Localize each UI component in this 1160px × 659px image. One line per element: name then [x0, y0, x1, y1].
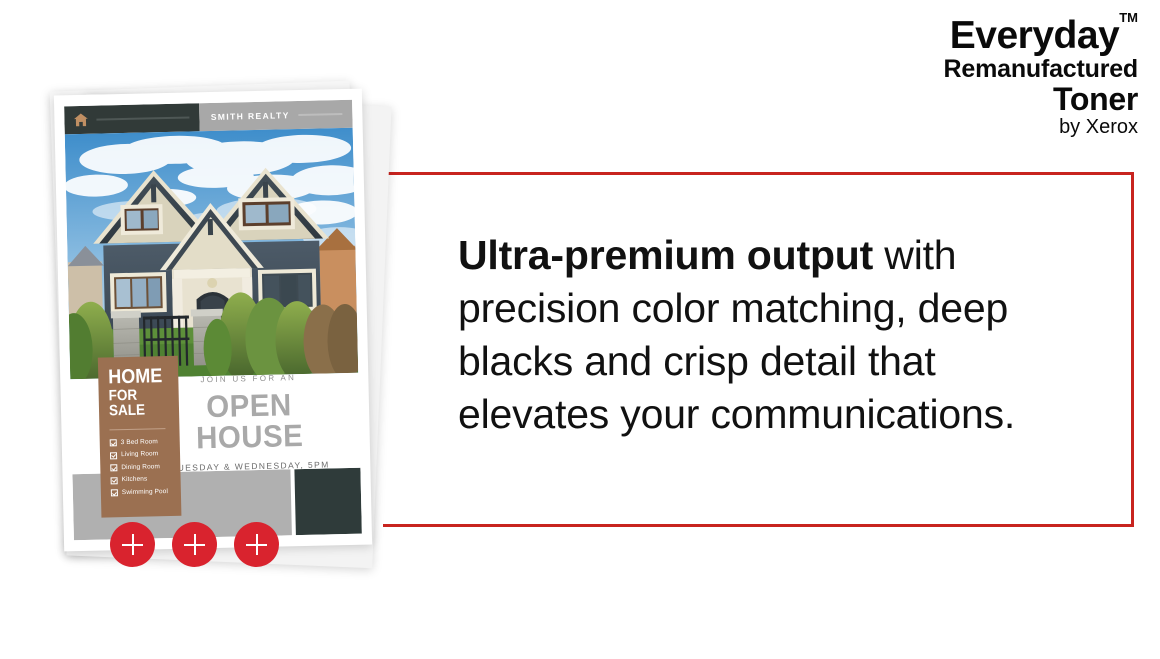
trademark-symbol: TM [1119, 10, 1138, 25]
real-estate-flyer: SMITH REALTY [64, 100, 362, 540]
checkbox-icon [110, 452, 117, 459]
brand-logo: EverydayTM Remanufactured Toner by Xerox [944, 16, 1138, 137]
brand-line-toner: Toner [944, 83, 1138, 115]
home-for-sale-title-line2: FOR SALE [109, 388, 165, 419]
add-button-2[interactable] [172, 522, 217, 567]
open-house-title: OPEN HOUSE [157, 388, 341, 454]
amenity-label: Kitchens [122, 477, 148, 484]
open-house-text-group: JOIN US FOR AN OPEN HOUSE TUESDAY & WEDN… [152, 372, 346, 473]
checkbox-icon [111, 477, 118, 484]
list-item: Living Room [110, 451, 172, 459]
house-photo-illustration [65, 128, 358, 379]
house-icon [73, 113, 88, 127]
flyer-header-logo-panel [64, 103, 200, 134]
brand-line-by-xerox: by Xerox [944, 117, 1138, 137]
panel-divider [109, 428, 165, 430]
amenity-label: Dining Room [121, 464, 160, 471]
front-sheet: SMITH REALTY [54, 89, 372, 552]
amenities-list: 3 Bed Room Living Room Dining Room Kitch… [110, 438, 173, 496]
amenity-label: Living Room [121, 451, 158, 458]
add-button-3[interactable] [234, 522, 279, 567]
brand-line-remanufactured: Remanufactured [944, 57, 1138, 82]
headline-text: Ultra-premium output with precision colo… [458, 229, 1078, 441]
flyer-header-name-panel: SMITH REALTY [199, 100, 352, 131]
list-item: 3 Bed Room [110, 438, 172, 446]
printed-sheet-stack: SMITH REALTY [34, 78, 404, 578]
home-for-sale-title-line1: HOME [108, 367, 164, 387]
list-item: Swimming Pool [111, 488, 173, 496]
house-photo [65, 128, 358, 379]
checkbox-icon [111, 490, 118, 497]
add-button-row [110, 522, 279, 567]
realty-name-label: SMITH REALTY [211, 110, 290, 122]
header-rule-left [96, 116, 189, 120]
home-for-sale-panel: HOME FOR SALE 3 Bed Room Living Room Din… [98, 356, 182, 518]
amenity-label: 3 Bed Room [121, 439, 158, 446]
checkbox-icon [110, 465, 117, 472]
footer-block-dark [294, 468, 361, 535]
brand-everyday-text: Everyday [950, 14, 1119, 57]
list-item: Dining Room [110, 463, 172, 471]
checkbox-icon [110, 440, 117, 447]
add-button-1[interactable] [110, 522, 155, 567]
headline-bold-phrase: Ultra-premium output [458, 232, 873, 278]
brand-line-everyday: EverydayTM [950, 16, 1138, 55]
amenity-label: Swimming Pool [122, 489, 168, 497]
header-rule-right [299, 113, 343, 116]
list-item: Kitchens [111, 476, 173, 484]
